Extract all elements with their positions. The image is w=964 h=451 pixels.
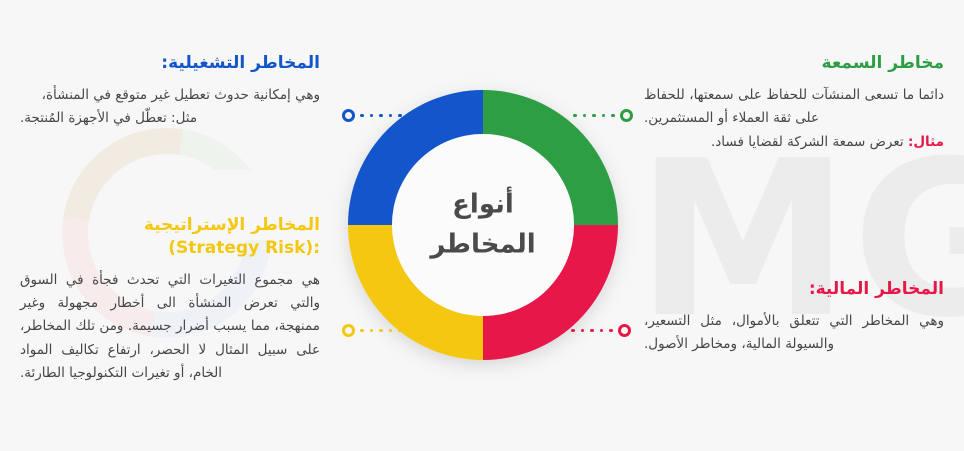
connector-reputation — [573, 109, 633, 122]
connector-strategic — [342, 324, 402, 337]
reputation-body: دائما ما تسعى المنشآت للحفاظ على سمعتها،… — [644, 84, 944, 130]
connector-dots-strategic — [360, 329, 402, 333]
reputation-heading: مخاطر السمعة — [644, 52, 944, 75]
strategic-heading-ar: المخاطر الإستراتيجية — [144, 215, 320, 235]
connector-ring-strategic — [342, 324, 355, 337]
connector-ring-operational — [342, 109, 355, 122]
strategic-heading: المخاطر الإستراتيجية (Strategy Risk): — [20, 214, 320, 260]
connector-financial — [571, 324, 631, 337]
risk-block-financial: المخاطر المالية: وهي المخاطر التي تتعلق … — [644, 278, 944, 356]
reputation-example-label: مثال: — [908, 134, 944, 150]
connector-ring-financial — [618, 324, 631, 337]
risk-block-strategic: المخاطر الإستراتيجية (Strategy Risk): هي… — [20, 214, 320, 385]
risk-donut-chart: أنواع المخاطر — [348, 90, 618, 360]
risk-block-reputation: مخاطر السمعة دائما ما تسعى المنشآت للحفا… — [644, 52, 944, 155]
connector-dots-reputation — [573, 114, 615, 118]
donut-hole — [392, 134, 574, 316]
operational-body: وهي إمكانية حدوث تعطيل غير متوقع في المن… — [20, 84, 320, 130]
strategic-body: هي مجموع التغيرات التي تحدث فجأة في السو… — [20, 269, 320, 385]
connector-dots-financial — [571, 329, 613, 333]
financial-body: وهي المخاطر التي تتعلق بالأموال، مثل الت… — [644, 310, 944, 356]
connector-ring-reputation — [620, 109, 633, 122]
connector-operational — [342, 109, 402, 122]
reputation-example-text: تعرض سمعة الشركة لقضايا فساد. — [711, 134, 908, 150]
financial-heading: المخاطر المالية: — [644, 278, 944, 301]
reputation-example: مثال: تعرض سمعة الشركة لقضايا فساد. — [644, 131, 944, 154]
connector-dots-operational — [360, 114, 402, 118]
risk-block-operational: المخاطر التشغيلية: وهي إمكانية حدوث تعطي… — [20, 52, 320, 130]
operational-heading: المخاطر التشغيلية: — [20, 52, 320, 75]
strategic-heading-en: (Strategy Risk): — [168, 238, 320, 258]
